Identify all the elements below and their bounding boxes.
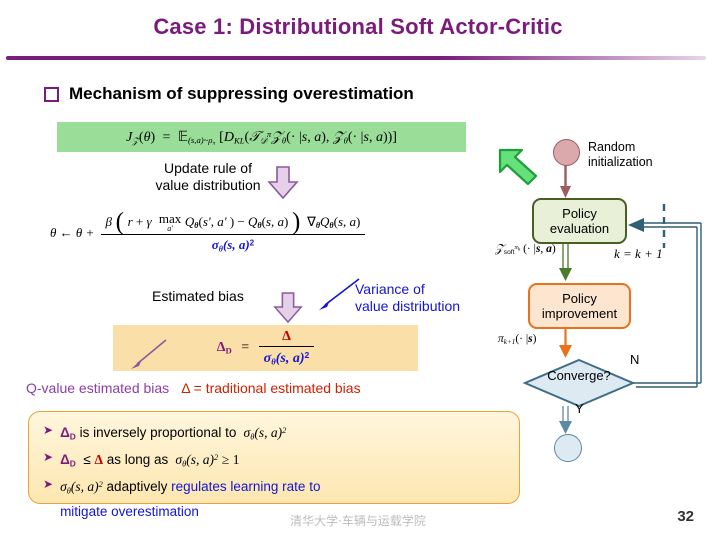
k-increment-label: k = k + 1 [614, 246, 663, 262]
objective-formula-box: J𝒵(θ) = 𝔼(s,a)~ρπ [DKL(𝒯𝒟π𝒵θ(· |s, a), 𝒵… [57, 122, 466, 152]
bullet-2-phrase: as long as [107, 452, 169, 467]
bullet-text-1: ΔD is inversely proportional to σθ(s, a)… [60, 420, 286, 447]
chevron-right-icon: ➤ [43, 447, 53, 468]
bullet-2-tail: ≥ 1 [222, 452, 240, 467]
bullet-list-box: ➤ ΔD is inversely proportional to σθ(s, … [28, 411, 520, 504]
chevron-right-icon: ➤ [43, 474, 53, 495]
theta-update-denominator: σθ(s, a)2 [207, 235, 259, 253]
variance-line1: Variance of [355, 281, 495, 298]
branch-no-label: N [630, 352, 639, 367]
objective-formula: J𝒵(θ) = 𝔼(s,a)~ρπ [DKL(𝒯𝒟π𝒵θ(· |s, a), 𝒵… [126, 128, 397, 147]
random-init-line1: Random [588, 140, 678, 155]
delta-formula: ΔD = Δ σθ(s, a)2 [217, 329, 315, 367]
page-title: Case 1: Distributional Soft Actor-Critic [0, 14, 716, 40]
theta-update-lhs: θ ← θ + [50, 225, 101, 241]
bullet-3-phrase: adaptively [107, 479, 168, 494]
estimated-bias-label: Estimated bias [152, 288, 244, 304]
page-number: 32 [677, 508, 694, 525]
variance-line2: value distribution [355, 298, 495, 315]
down-arrow-icon-1 [266, 165, 300, 206]
delta-equals: = [238, 340, 253, 356]
flow-node-policy-improvement[interactable]: Policy improvement [528, 283, 631, 329]
flow-end-node [554, 434, 582, 462]
delta-pointer-arrow-icon [128, 338, 170, 377]
delta-numerator: Δ [277, 329, 296, 346]
square-bullet-icon [44, 87, 59, 102]
random-initialization-label: Random initialization [588, 140, 678, 170]
theta-update-fraction: β ( r + γ maxa′ Qθ(s′, a′ ) − Qθ(s, a) )… [101, 212, 366, 254]
update-rule-line1: Update rule of [143, 160, 273, 177]
flow-node-policy-evaluation[interactable]: Policy evaluation [532, 198, 627, 244]
legend-traditional-bias: Δ = traditional estimated bias [181, 380, 360, 396]
bullet-1-phrase: is inversely proportional to [80, 425, 237, 440]
update-rule-line2: value distribution [143, 177, 273, 194]
legend-row: Q-value estimated bias Δ = traditional e… [26, 380, 526, 396]
delta-fraction: Δ σθ(s, a)2 [259, 329, 315, 367]
policy-evaluation-label: Policy evaluation [550, 206, 609, 236]
branch-yes-label: Y [575, 401, 584, 416]
z-soft-label: 𝒵softπk (· |s, a) [495, 243, 556, 256]
delta-denominator: σθ(s, a)2 [259, 347, 315, 367]
pi-policy-label: πk+1(· |s) [498, 333, 536, 346]
flow-start-node [553, 139, 580, 166]
slide-root: Case 1: Distributional Soft Actor-Critic… [0, 0, 716, 536]
footer-text: 清华大学·车辆与运载学院 [0, 512, 716, 529]
policy-improvement-label: Policy improvement [542, 291, 617, 321]
delta-d-symbol: ΔD [217, 340, 232, 356]
chevron-right-icon: ➤ [43, 420, 53, 441]
list-item: ➤ ΔD is inversely proportional to σθ(s, … [43, 420, 507, 447]
section-heading: Mechanism of suppressing overestimation [44, 84, 414, 104]
flow-node-converge-label[interactable]: Converge? [529, 368, 629, 383]
flowchart: Random initialization Policy evaluation … [496, 138, 716, 478]
section-heading-label: Mechanism of suppressing overestimation [69, 84, 414, 104]
random-init-line2: initialization [588, 155, 678, 170]
theta-update-formula: θ ← θ + β ( r + γ maxa′ Qθ(s′, a′ ) − Qθ… [50, 212, 520, 254]
legend-q-value-bias: Q-value estimated bias [26, 380, 169, 396]
list-item: ➤ ΔD ≤ Δ as long as σθ(s, a)2 ≥ 1 [43, 447, 507, 474]
theta-update-numerator: β ( r + γ maxa′ Qθ(s′, a′ ) − Qθ(s, a) )… [101, 212, 366, 234]
variance-label: Variance of value distribution [355, 281, 495, 315]
bullet-text-2: ΔD ≤ Δ as long as σθ(s, a)2 ≥ 1 [60, 447, 239, 474]
title-divider [6, 56, 706, 60]
bullet-3-blue-1: regulates learning rate to [171, 479, 320, 494]
update-rule-label: Update rule of value distribution [143, 160, 273, 194]
